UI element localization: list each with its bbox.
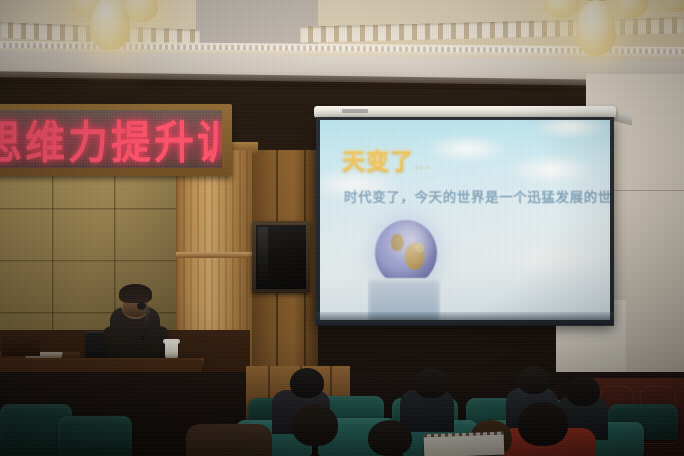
pillar-band <box>176 252 252 258</box>
globe-graphic <box>375 220 437 286</box>
projection-screen-bottom-shadow <box>316 312 614 326</box>
seat[interactable] <box>58 416 132 456</box>
audience-torso <box>186 424 272 456</box>
audience-head <box>368 420 412 456</box>
slide-title-text: 天变了 <box>342 149 414 175</box>
audience-head <box>290 368 324 398</box>
cloud <box>506 154 598 186</box>
audience-head <box>518 366 550 394</box>
audience-head <box>566 376 600 406</box>
screen-housing-label <box>342 109 368 113</box>
audience-head <box>414 368 448 398</box>
audience-head <box>292 404 338 446</box>
wall-monitor-glare <box>258 227 268 285</box>
lecture-hall-photo: 思维力提升训练 天变了… 时代变了，今天的世界是一个迅猛发展的世界 <box>0 0 684 456</box>
led-banner: 思维力提升训练 <box>0 110 222 168</box>
cloud <box>424 134 510 164</box>
audience-head <box>518 402 568 446</box>
drinking-cup <box>165 341 178 359</box>
notebook <box>424 435 505 456</box>
microphone-head <box>137 302 146 310</box>
speaker-hair <box>119 284 152 303</box>
slide-title: 天变了… <box>342 142 432 176</box>
projection-screen[interactable]: 天变了… 时代变了，今天的世界是一个迅猛发展的世界 <box>320 120 610 320</box>
slide-title-ellipsis: … <box>414 154 432 173</box>
slide-body-text: 时代变了，今天的世界是一个迅猛发展的世界 <box>344 186 602 206</box>
lamp-bulb <box>90 0 130 50</box>
led-banner-text: 思维力提升训练 <box>0 110 222 168</box>
stage-chair <box>2 330 40 356</box>
cloud <box>496 238 608 284</box>
cloud <box>530 120 610 140</box>
